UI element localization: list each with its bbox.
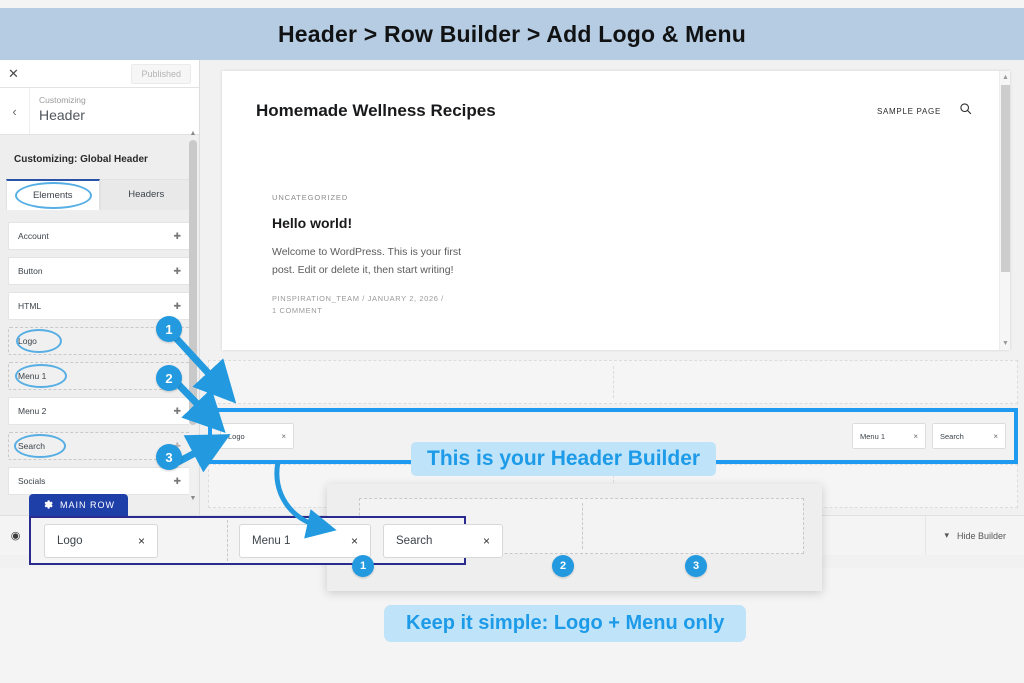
element-item-menu-2[interactable]: Menu 2 ✚ (8, 397, 191, 425)
highlight-ellipse-logo (16, 329, 62, 353)
builder-chip-logo[interactable]: Logo × (220, 423, 294, 449)
site-preview: Homemade Wellness Recipes SAMPLE PAGE UN… (222, 71, 1010, 350)
step-badge-2: 2 (156, 365, 182, 391)
highlight-ellipse-elements-tab (15, 182, 92, 209)
highlight-ellipse-menu-1 (15, 364, 67, 388)
element-label: Account (18, 231, 49, 241)
element-item-account[interactable]: Account ✚ (8, 222, 191, 250)
section-title: Customizing: Global Header (0, 135, 199, 179)
move-handle-icon[interactable]: ✚ (173, 476, 181, 487)
close-icon[interactable]: × (351, 534, 358, 548)
scroll-down-icon[interactable]: ▼ (189, 495, 197, 502)
chip-label: Logo (228, 432, 245, 441)
scrollbar-thumb[interactable] (1001, 85, 1010, 272)
element-label: Button (18, 266, 43, 276)
move-handle-icon[interactable]: ✚ (173, 266, 181, 277)
page-title: Header > Row Builder > Add Logo & Menu (278, 21, 746, 48)
element-item-socials[interactable]: Socials ✚ (8, 467, 191, 495)
main-row-tab[interactable]: MAIN ROW (29, 494, 128, 516)
tab-headers[interactable]: Headers (100, 179, 194, 210)
builder-chip-menu-1[interactable]: Menu 1 × (852, 423, 926, 449)
inset-title: This is your Header Builder (411, 442, 716, 476)
customizer-topbar: ✕ Published (0, 60, 199, 88)
inset-step-badge-3: 3 (685, 555, 707, 577)
chip-label: Logo (57, 535, 83, 547)
page-banner: Header > Row Builder > Add Logo & Menu (0, 8, 1024, 60)
close-icon[interactable]: ✕ (8, 67, 19, 80)
close-icon[interactable]: × (281, 432, 286, 441)
preview-nav: SAMPLE PAGE (877, 102, 972, 120)
chip-label: Menu 1 (252, 535, 290, 547)
preview-scrollbar[interactable]: ▲ ▼ (999, 71, 1010, 350)
element-label: Menu 2 (18, 406, 46, 416)
scroll-down-icon[interactable]: ▼ (1000, 340, 1011, 347)
gear-icon (42, 499, 53, 512)
step-badge-1: 1 (156, 316, 182, 342)
breadcrumb-big-label: Header (39, 106, 86, 124)
builder-chip-search[interactable]: Search × (932, 423, 1006, 449)
nav-link-sample-page[interactable]: SAMPLE PAGE (877, 107, 941, 116)
close-icon[interactable]: × (913, 432, 918, 441)
element-label: HTML (18, 301, 41, 311)
post-body: Welcome to WordPress. This is your first… (272, 243, 472, 279)
highlight-ellipse-search (14, 434, 66, 458)
post-meta-sep: / (441, 294, 444, 303)
element-label: Socials (18, 476, 45, 486)
post-heading[interactable]: Hello world! (272, 215, 472, 231)
publish-button[interactable]: Published (131, 64, 191, 84)
builder-row-main-left: Logo × (220, 423, 300, 449)
breadcrumb-small-label: Customizing (39, 94, 86, 106)
preview-site-header: Homemade Wellness Recipes SAMPLE PAGE (222, 71, 1010, 121)
site-title: Homemade Wellness Recipes (256, 101, 496, 121)
hide-builder-button[interactable]: ▾ Hide Builder (925, 516, 1024, 555)
post-meta-comments: 1 COMMENT (272, 305, 472, 317)
chip-label: Search (396, 535, 432, 547)
chip-label: Menu 1 (860, 432, 885, 441)
post-meta-author: PINSPIRATION_TEAM (272, 294, 360, 303)
inset-chip-search[interactable]: Search × (383, 524, 503, 558)
move-handle-icon[interactable]: ✚ (173, 406, 181, 417)
close-icon[interactable]: × (483, 534, 490, 548)
move-handle-icon[interactable]: ✚ (173, 231, 181, 242)
post-meta-date: JANUARY 2, 2026 (368, 294, 439, 303)
scrollbar-thumb[interactable] (189, 140, 197, 425)
move-handle-icon[interactable]: ✚ (173, 301, 181, 312)
post-category[interactable]: UNCATEGORIZED (272, 193, 472, 202)
chevron-left-icon[interactable]: ‹ (0, 88, 30, 134)
post-meta-sep: / (362, 294, 365, 303)
builder-row-above[interactable] (208, 360, 1018, 404)
preview-post: UNCATEGORIZED Hello world! Welcome to Wo… (222, 121, 472, 317)
element-item-button[interactable]: Button ✚ (8, 257, 191, 285)
inset-chip-menu-1[interactable]: Menu 1 × (239, 524, 371, 558)
chip-label: Search (940, 432, 964, 441)
search-icon[interactable] (959, 102, 972, 120)
breadcrumb: ‹ Customizing Header (0, 88, 199, 135)
eye-icon[interactable]: ◉ (0, 516, 32, 555)
inset-main-row[interactable]: Logo × Menu 1 × Search × (29, 516, 466, 565)
close-icon[interactable]: × (138, 534, 145, 548)
inset-step-badge-1: 1 (352, 555, 374, 577)
sidebar-scrollbar[interactable]: ▲ ▼ (189, 136, 197, 496)
main-row-tab-label: MAIN ROW (60, 500, 115, 510)
builder-row-main-right: Menu 1 × Search × (852, 423, 1006, 449)
inset-chip-logo[interactable]: Logo × (44, 524, 158, 558)
footer-caption: Keep it simple: Logo + Menu only (384, 605, 746, 642)
scroll-up-icon[interactable]: ▲ (1000, 74, 1011, 81)
chevron-down-icon: ▾ (944, 530, 949, 541)
inset-step-badge-2: 2 (552, 555, 574, 577)
step-badge-3: 3 (156, 444, 182, 470)
scroll-up-icon[interactable]: ▲ (189, 130, 197, 137)
post-meta: PINSPIRATION_TEAM / JANUARY 2, 2026 / 1 … (272, 293, 472, 317)
close-icon[interactable]: × (993, 432, 998, 441)
hide-builder-label: Hide Builder (957, 531, 1006, 541)
